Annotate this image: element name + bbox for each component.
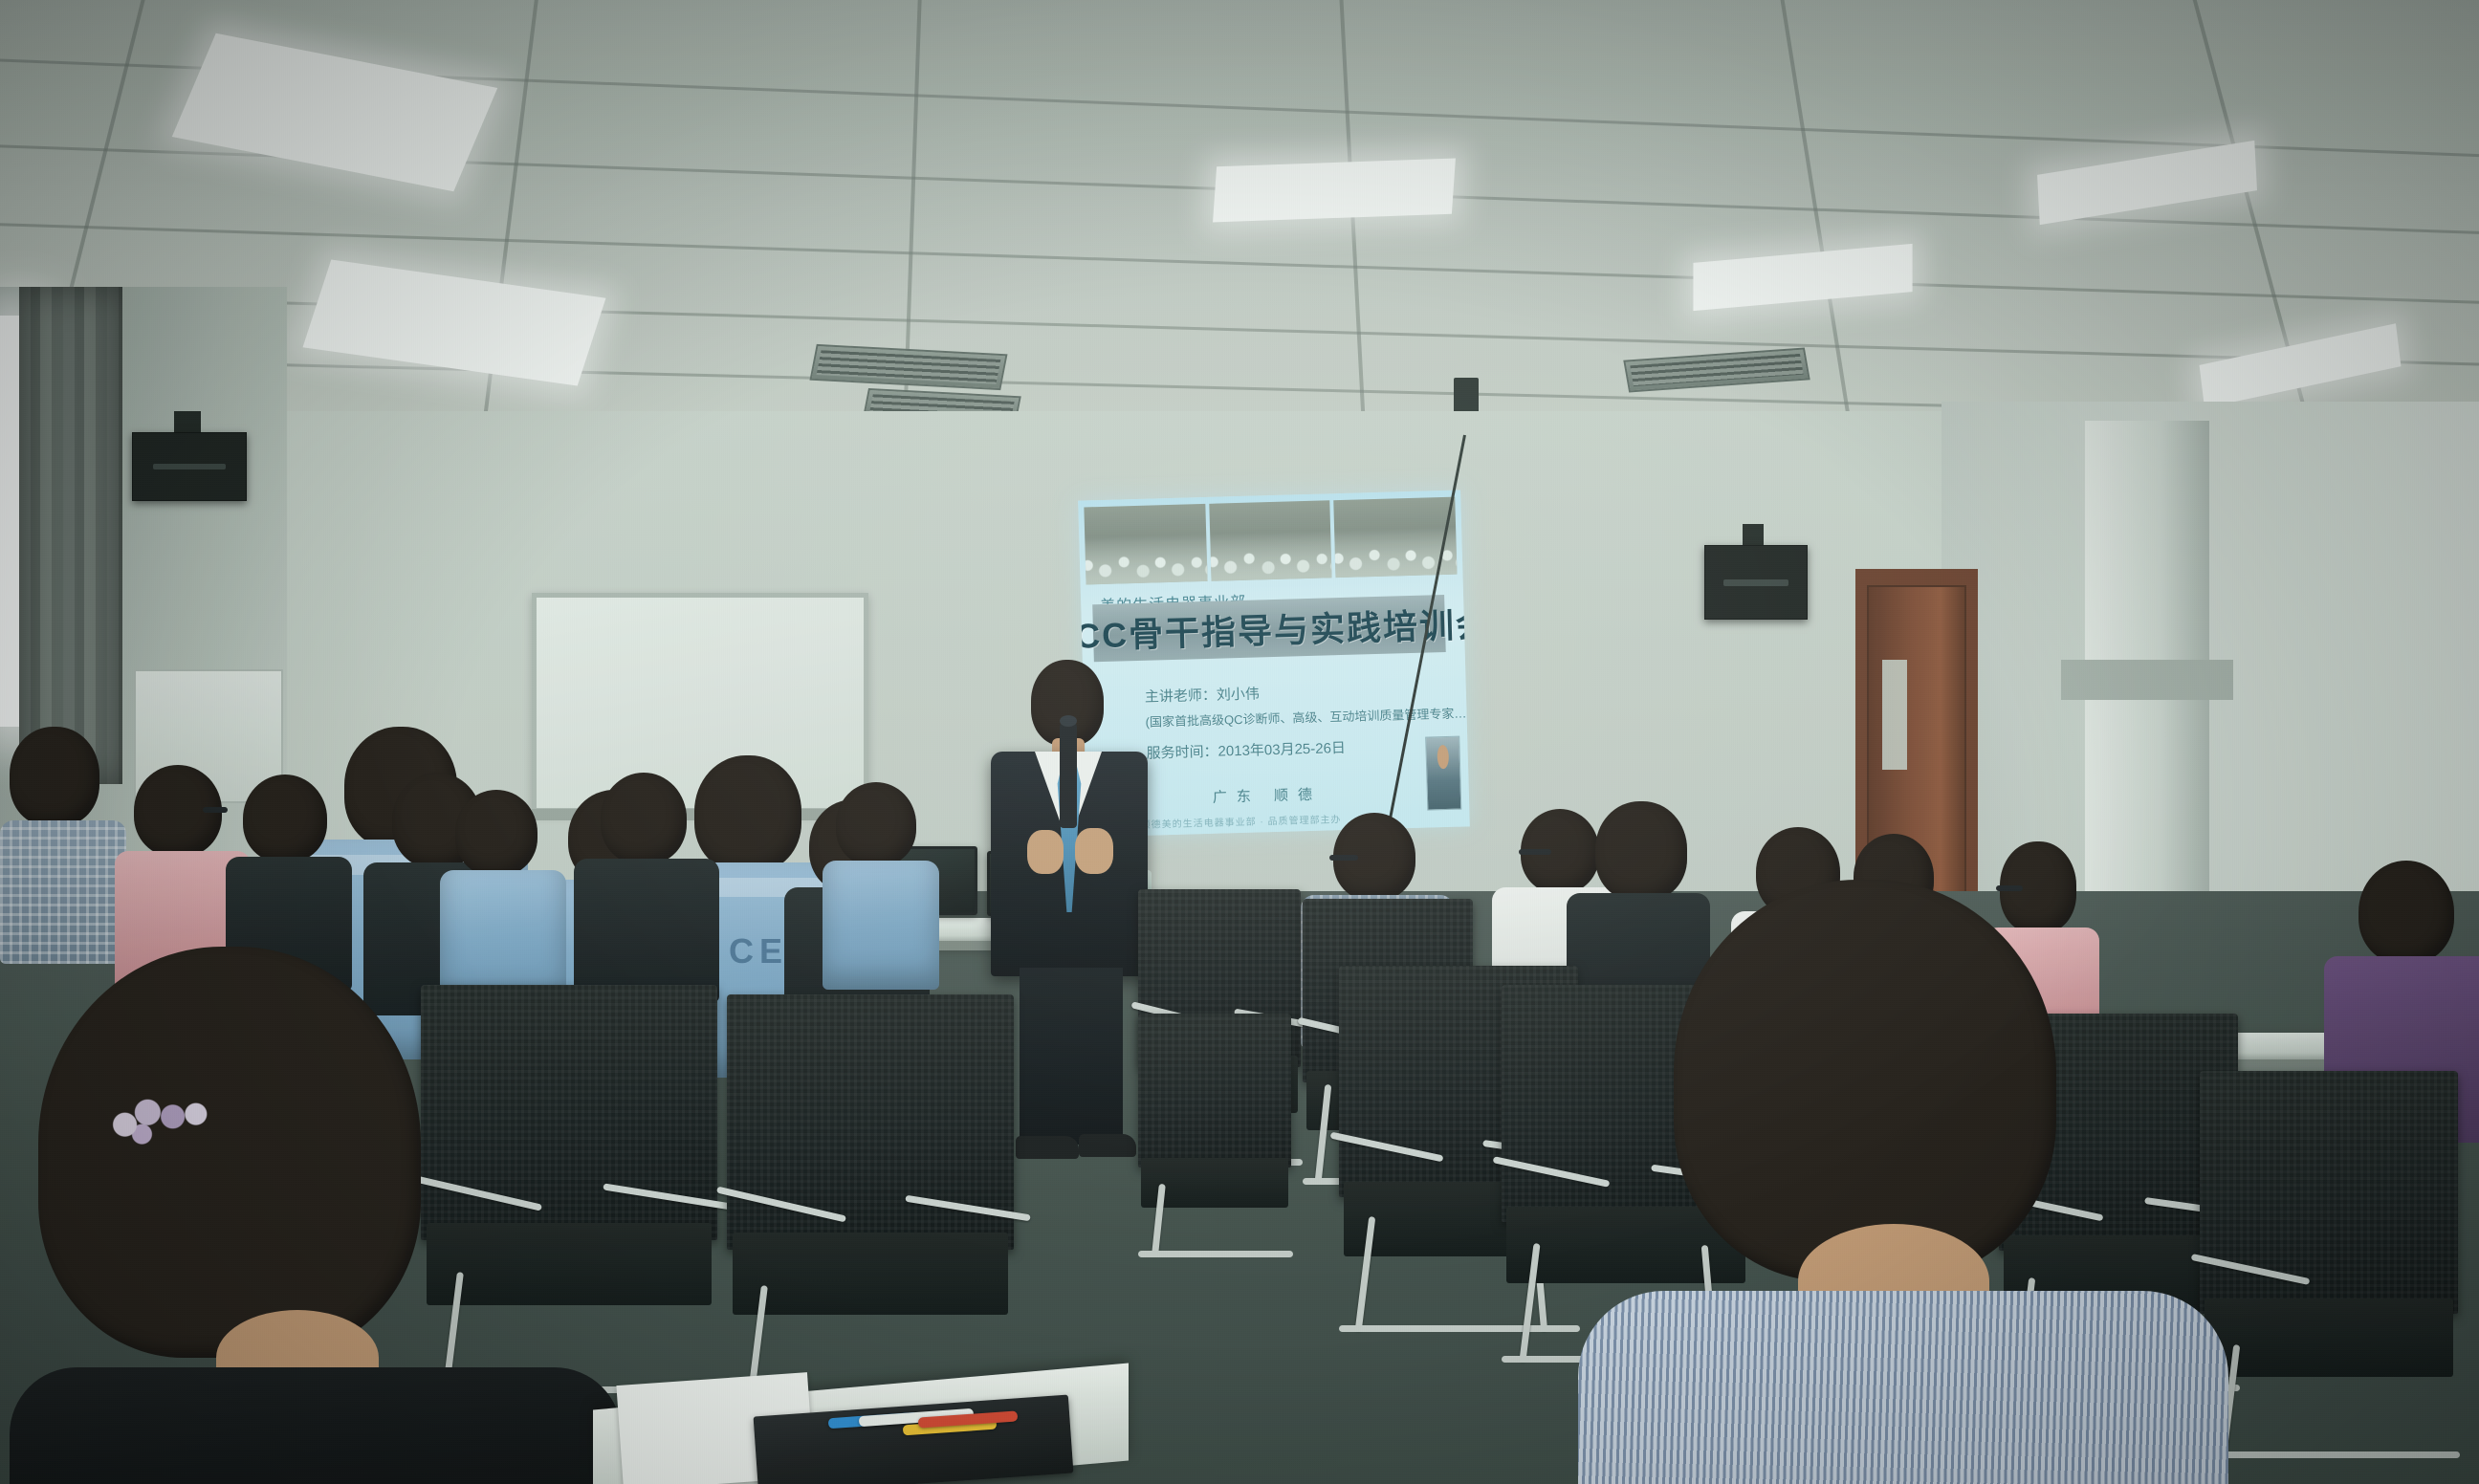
presenter-shoe bbox=[1079, 1134, 1136, 1157]
slide-photo-2 bbox=[1209, 500, 1332, 580]
attendee-head bbox=[836, 782, 916, 866]
chair-backrest bbox=[1138, 1014, 1291, 1168]
slide-photo-1 bbox=[1084, 504, 1207, 584]
slide-photo-strip bbox=[1084, 497, 1457, 585]
chair[interactable] bbox=[2200, 1071, 2458, 1463]
attendee bbox=[0, 727, 124, 947]
window-curtain bbox=[19, 287, 122, 784]
chair[interactable] bbox=[1138, 1014, 1291, 1262]
chair-base bbox=[1138, 1251, 1293, 1257]
attendee-head bbox=[1674, 880, 2056, 1281]
left-wall-speaker bbox=[132, 432, 247, 501]
presenter-hand-left bbox=[1027, 830, 1064, 874]
training-room-photo: 美的生活电器事业部 QCC骨干指导与实践培训会 主讲老师：刘小伟 (国家首批高级… bbox=[0, 0, 2479, 1484]
microphone[interactable] bbox=[1060, 723, 1077, 828]
wall-stripe bbox=[2061, 660, 2233, 700]
ceiling-light-panel bbox=[1213, 159, 1456, 223]
attendee-torso bbox=[1578, 1291, 2228, 1484]
attendee-torso bbox=[10, 1367, 622, 1484]
door-window bbox=[1882, 660, 1907, 770]
presenter-trousers bbox=[1020, 968, 1123, 1145]
foreground-attendee-left bbox=[10, 947, 622, 1484]
attendee-head bbox=[601, 773, 687, 864]
attendee-head bbox=[38, 947, 421, 1358]
foreground-attendee-right bbox=[1616, 880, 2209, 1484]
attendee-head bbox=[243, 775, 327, 862]
presenter-shoe bbox=[1016, 1136, 1079, 1159]
uniform-logo-text: CE bbox=[729, 931, 788, 971]
glasses-icon bbox=[1519, 849, 1551, 855]
right-wall-speaker bbox=[1704, 545, 1808, 620]
attendee-torso bbox=[823, 861, 939, 990]
attendee bbox=[823, 782, 937, 983]
presenter-hand-right bbox=[1075, 828, 1113, 874]
glasses-icon bbox=[1329, 855, 1358, 861]
slide-place: 广东 顺德 bbox=[1213, 783, 1323, 806]
slide-title: QCC骨干指导与实践培训会 bbox=[1078, 598, 1470, 660]
slide-title-bar: QCC骨干指导与实践培训会 bbox=[1092, 595, 1446, 662]
chair-backrest bbox=[2200, 1071, 2458, 1314]
attendee-torso bbox=[0, 820, 126, 964]
chair[interactable] bbox=[727, 994, 1014, 1406]
chair-seat bbox=[2205, 1298, 2452, 1377]
slide-portrait-photo bbox=[1425, 736, 1461, 811]
attendee-head bbox=[2358, 861, 2454, 964]
attendee-head bbox=[10, 727, 99, 826]
attendee-head bbox=[455, 790, 537, 876]
glasses-icon bbox=[203, 807, 228, 813]
chair-seat bbox=[733, 1233, 1008, 1315]
chair-base bbox=[2200, 1451, 2460, 1458]
